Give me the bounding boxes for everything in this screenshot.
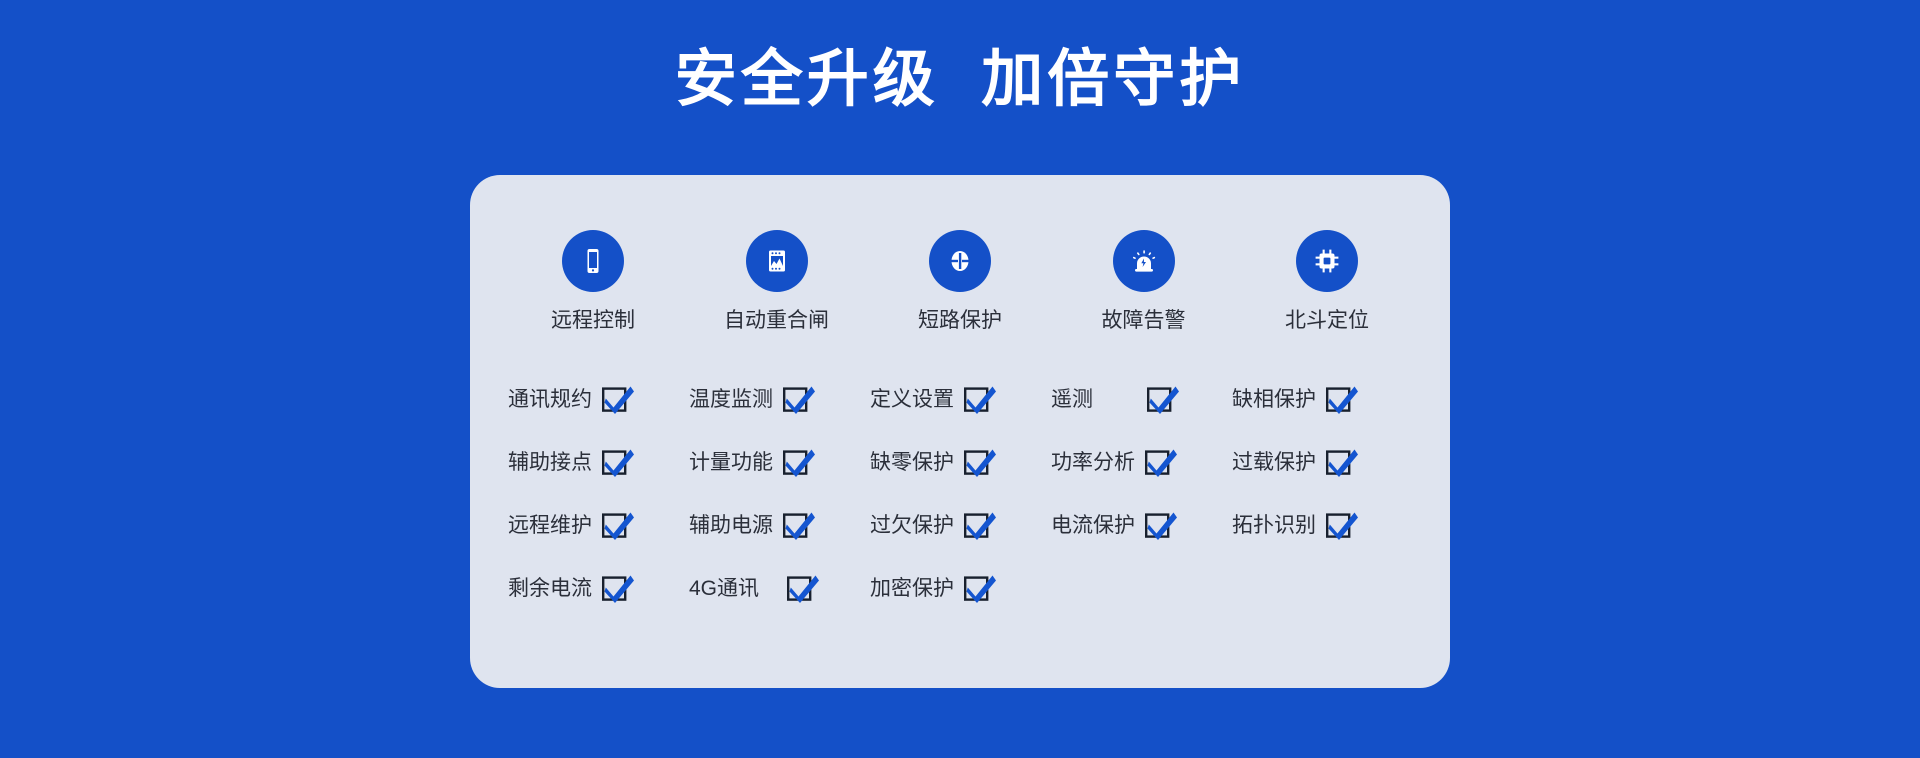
feature-item[interactable]: 电流保护 — [1051, 511, 1232, 541]
feature-item[interactable]: 辅助接点 — [508, 448, 689, 478]
feature-item[interactable]: 过载保护 — [1232, 448, 1413, 478]
feature-item[interactable]: 缺相保护 — [1232, 385, 1413, 415]
checkbox-checked-icon[interactable] — [783, 511, 817, 541]
icon-feature-label: 短路保护 — [918, 307, 1002, 335]
icon-feature-auto-reclose[interactable]: 自动重合闸 — [692, 230, 862, 335]
icon-feature-short-circuit-protection[interactable]: 短路保护 — [875, 230, 1045, 335]
feature-item[interactable]: 过欠保护 — [870, 511, 1051, 541]
feature-label: 剩余电流 — [508, 574, 592, 604]
checkbox-checked-icon[interactable] — [602, 385, 636, 415]
feature-label: 4G通讯 — [689, 574, 759, 604]
feature-item[interactable]: 拓扑识别 — [1232, 511, 1413, 541]
feature-row: 辅助接点 计量功能 — [508, 438, 1416, 488]
feature-label: 计量功能 — [689, 448, 773, 478]
feature-label: 缺零保护 — [870, 448, 954, 478]
feature-item[interactable]: 功率分析 — [1051, 448, 1232, 478]
alarm-siren-icon — [1127, 244, 1161, 278]
checkbox-checked-icon[interactable] — [787, 574, 821, 604]
promo-banner: 安全升级 加倍守护 远程控制 — [0, 0, 1920, 758]
feature-label: 定义设置 — [870, 385, 954, 415]
checkbox-checked-icon[interactable] — [602, 511, 636, 541]
short-circuit-icon — [943, 244, 977, 278]
page-title: 安全升级 加倍守护 — [0, 40, 1920, 120]
feature-label: 电流保护 — [1051, 511, 1135, 541]
feature-item[interactable]: 辅助电源 — [689, 511, 870, 541]
checkbox-checked-icon[interactable] — [1326, 385, 1360, 415]
feature-item[interactable]: 缺零保护 — [870, 448, 1051, 478]
checkbox-checked-icon[interactable] — [1145, 511, 1179, 541]
icon-feature-fault-alarm[interactable]: 故障告警 — [1059, 230, 1229, 335]
feature-label: 通讯规约 — [508, 385, 592, 415]
feature-item[interactable]: 远程维护 — [508, 511, 689, 541]
feature-item[interactable]: 温度监测 — [689, 385, 870, 415]
feature-label: 过载保护 — [1232, 448, 1316, 478]
checkbox-checked-icon[interactable] — [1326, 448, 1360, 478]
feature-checklist: 通讯规约 温度监测 — [508, 375, 1416, 627]
icon-feature-label: 自动重合闸 — [724, 307, 829, 335]
icon-badge — [1296, 230, 1358, 292]
checkbox-checked-icon[interactable] — [964, 511, 998, 541]
checkbox-checked-icon[interactable] — [1326, 511, 1360, 541]
icon-badge — [929, 230, 991, 292]
feature-label: 缺相保护 — [1232, 385, 1316, 415]
icon-feature-remote-control[interactable]: 远程控制 — [508, 230, 678, 335]
icon-feature-row: 远程控制 — [508, 230, 1412, 335]
feature-row: 通讯规约 温度监测 — [508, 375, 1416, 425]
feature-label: 辅助电源 — [689, 511, 773, 541]
feature-row: 剩余电流 4G通讯 — [508, 564, 1416, 614]
checkbox-checked-icon[interactable] — [964, 574, 998, 604]
feature-label: 辅助接点 — [508, 448, 592, 478]
feature-label: 加密保护 — [870, 574, 954, 604]
feature-item[interactable]: 通讯规约 — [508, 385, 689, 415]
feature-item[interactable]: 剩余电流 — [508, 574, 689, 604]
icon-badge — [562, 230, 624, 292]
feature-label: 远程维护 — [508, 511, 592, 541]
feature-label: 温度监测 — [689, 385, 773, 415]
feature-label: 功率分析 — [1051, 448, 1135, 478]
checkbox-checked-icon[interactable] — [783, 448, 817, 478]
checkbox-checked-icon[interactable] — [602, 574, 636, 604]
icon-badge — [746, 230, 808, 292]
checkbox-checked-icon[interactable] — [1145, 448, 1179, 478]
icon-feature-label: 北斗定位 — [1285, 307, 1369, 335]
feature-label: 遥测 — [1051, 385, 1093, 415]
feature-item[interactable]: 遥测 — [1051, 385, 1232, 415]
feature-item[interactable]: 计量功能 — [689, 448, 870, 478]
feature-label: 过欠保护 — [870, 511, 954, 541]
feature-label: 拓扑识别 — [1232, 511, 1316, 541]
icon-feature-label: 故障告警 — [1102, 307, 1186, 335]
icon-badge — [1113, 230, 1175, 292]
checkbox-checked-icon[interactable] — [1147, 385, 1181, 415]
smartphone-icon — [576, 244, 610, 278]
feature-item[interactable]: 加密保护 — [870, 574, 1051, 604]
checkbox-checked-icon[interactable] — [602, 448, 636, 478]
feature-card: 远程控制 — [470, 175, 1450, 688]
checkbox-checked-icon[interactable] — [964, 385, 998, 415]
feature-item[interactable]: 定义设置 — [870, 385, 1051, 415]
icon-feature-beidou-positioning[interactable]: 北斗定位 — [1242, 230, 1412, 335]
checkbox-checked-icon[interactable] — [964, 448, 998, 478]
icon-feature-label: 远程控制 — [551, 307, 635, 335]
feature-item[interactable]: 4G通讯 — [689, 574, 870, 604]
checkbox-checked-icon[interactable] — [783, 385, 817, 415]
chip-icon — [1310, 244, 1344, 278]
feature-row: 远程维护 辅助电源 — [508, 501, 1416, 551]
circuit-breaker-icon — [760, 244, 794, 278]
